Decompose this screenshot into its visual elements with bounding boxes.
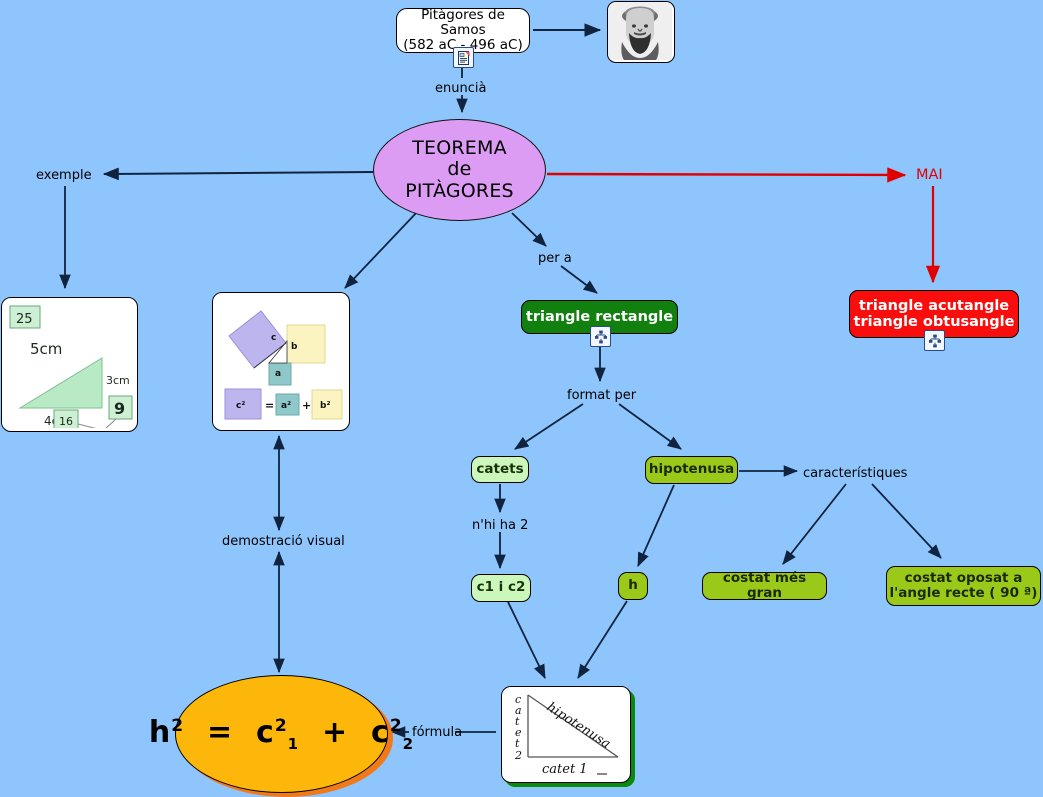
demostracio-visual-picture[interactable]: c b a c² = a² + b² [212,292,350,431]
catet-hipotenusa-diagram: c a t e t 2 hipotenusa catet 1 [502,687,627,779]
submap-icon[interactable] [924,330,945,351]
triangle-rectangle-label: triangle rectangle [526,309,673,325]
catets-label: catets [476,462,523,477]
hipotenusa-label: hipotenusa [649,462,734,477]
central-node-line2: de [405,159,514,180]
exemple-picture[interactable]: 25 5cm 3cm 4cm 9 16 25 [1,297,138,432]
node-formula-ellipse[interactable]: h2 = c21 + c22 [175,675,388,793]
edge-label-caracteristiques: característiques [803,466,907,481]
svg-text:c²: c² [236,401,245,411]
formula-plus: + [322,715,348,750]
concept-map-canvas: Pitàgores de Samos (582 aC - 496 aC) [0,0,1043,797]
svg-text:2: 2 [514,749,522,762]
central-node-line3: PITÀGORES [405,181,514,202]
node-costat-mes-gran[interactable]: costat més gran [702,572,827,600]
portrait-image [608,2,672,60]
h-label: h [628,578,638,593]
formula-c2: c [371,715,390,750]
triangle-labels-picture[interactable]: c a t e t 2 hipotenusa catet 1 [501,686,631,783]
forbidden-line1: triangle acutangle [854,298,1015,314]
central-node-line1: TEOREMA [405,138,514,159]
formula-h-exp: 2 [171,716,184,736]
node-hipotenusa[interactable]: hipotenusa [645,456,738,484]
central-node-teorema-de-pitagores[interactable]: TEOREMA de PITÀGORES [373,119,546,221]
costat-mes-gran-label: costat més gran [703,571,826,601]
svg-text:9: 9 [114,399,125,418]
node-c1-i-c2[interactable]: c1 i c2 [471,574,531,602]
exemple-triangle-diagram: 25 5cm 3cm 4cm 9 16 25 [2,298,134,428]
costat-oposat-line1: costat oposat a [890,571,1038,586]
note-icon[interactable] [453,47,474,68]
svg-text:c: c [271,333,276,343]
svg-text:a²: a² [281,401,291,411]
author-name: Pitàgores de Samos [397,8,529,38]
svg-text:5cm: 5cm [30,340,62,358]
svg-text:25: 25 [16,312,33,327]
visual-proof-diagram: c b a c² = a² + b² [213,293,346,427]
svg-text:a: a [275,369,281,379]
formula-h: h [149,715,171,750]
svg-text:+: + [302,399,311,412]
svg-text:b²: b² [320,401,330,411]
svg-text:=: = [265,399,274,412]
c1c2-label: c1 i c2 [477,580,526,595]
edge-label-nhi-ha-2: n'hi ha 2 [472,518,528,533]
node-costat-oposat-angle-recte[interactable]: costat oposat a l'angle recte ( 90 ª) [886,566,1041,606]
submap-icon[interactable] [590,326,611,347]
forbidden-line2: triangle obtusangle [854,314,1015,330]
svg-text:b: b [291,342,298,352]
edge-label-exemple: exemple [36,168,92,183]
formula-c2-sub: 2 [403,735,414,753]
formula-c1-exp: 2 [275,716,288,736]
svg-text:3cm: 3cm [106,374,130,387]
edge-label-per-a: per a [538,251,572,266]
costat-oposat-line2: l'angle recte ( 90 ª) [890,586,1038,601]
edge-label-format-per: format per [567,388,636,403]
formula-c1: c [256,715,275,750]
edge-label-formula: fórmula [412,725,462,740]
formula-c1-sub: 1 [288,735,299,753]
formula-c2-exp: 2 [390,716,403,736]
edge-label-enuncia: enuncià [435,81,486,96]
edge-label-mai: MAI [916,167,943,183]
svg-text:16: 16 [59,415,73,428]
pythagoras-portrait[interactable] [607,1,675,63]
edge-layer [0,0,1043,797]
node-h[interactable]: h [618,572,648,600]
formula-expression: h2 = c21 + c22 [149,716,414,753]
edge-label-demostracio-visual: demostració visual [222,534,345,549]
node-catets[interactable]: catets [471,456,529,483]
svg-text:25: 25 [100,427,115,428]
svg-text:catet 1: catet 1 [542,762,588,777]
formula-equals: = [207,715,233,750]
